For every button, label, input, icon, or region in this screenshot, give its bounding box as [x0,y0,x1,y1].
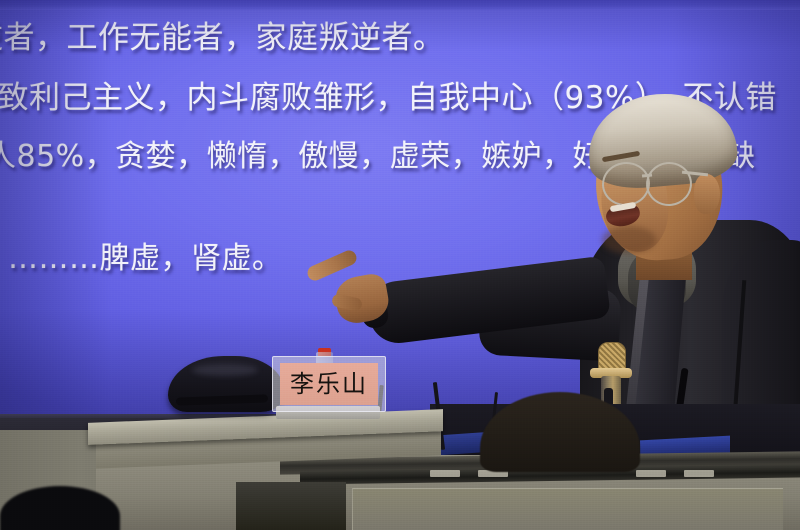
ear [694,174,720,214]
lecture-photo-scene: 逆者，工作无能者，家庭叛逆者。 精致利己主义，内斗腐败雏形，自我中心（93%），… [0,0,800,530]
rail-notch [430,470,460,477]
chin-shadow [602,226,656,254]
slide-line-4: ………脾虚，肾虚。 [8,233,283,277]
slide-line-1: 逆者，工作无能者，家庭叛逆者。 [0,12,445,57]
placard-acrylic-holder: 李乐山 [272,356,386,412]
podium-cable-gap [236,482,346,530]
rail-notch [636,470,666,477]
bag-highlight [192,364,258,376]
name-placard: 李乐山 [272,356,384,418]
podium-drawer[interactable] [352,488,783,530]
placard-card: 李乐山 [280,363,378,405]
placard-name-text: 李乐山 [290,372,368,396]
rail-notch [684,470,714,477]
